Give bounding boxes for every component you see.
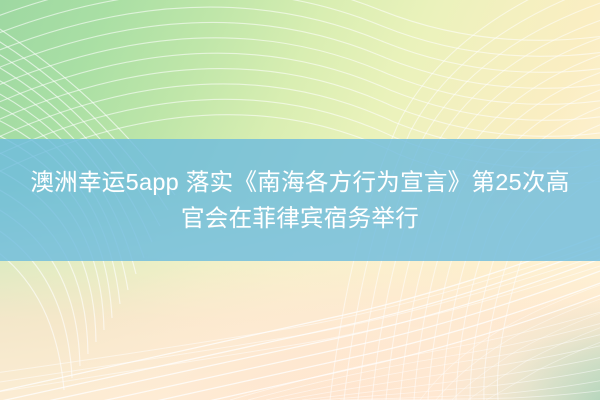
page-title: 澳洲幸运5app 落实《南海各方行为宣言》第25次高官会在菲律宾宿务举行 (20, 164, 580, 236)
title-band: 澳洲幸运5app 落实《南海各方行为宣言》第25次高官会在菲律宾宿务举行 (0, 139, 600, 261)
banner-image: 澳洲幸运5app 落实《南海各方行为宣言》第25次高官会在菲律宾宿务举行 (0, 0, 600, 400)
